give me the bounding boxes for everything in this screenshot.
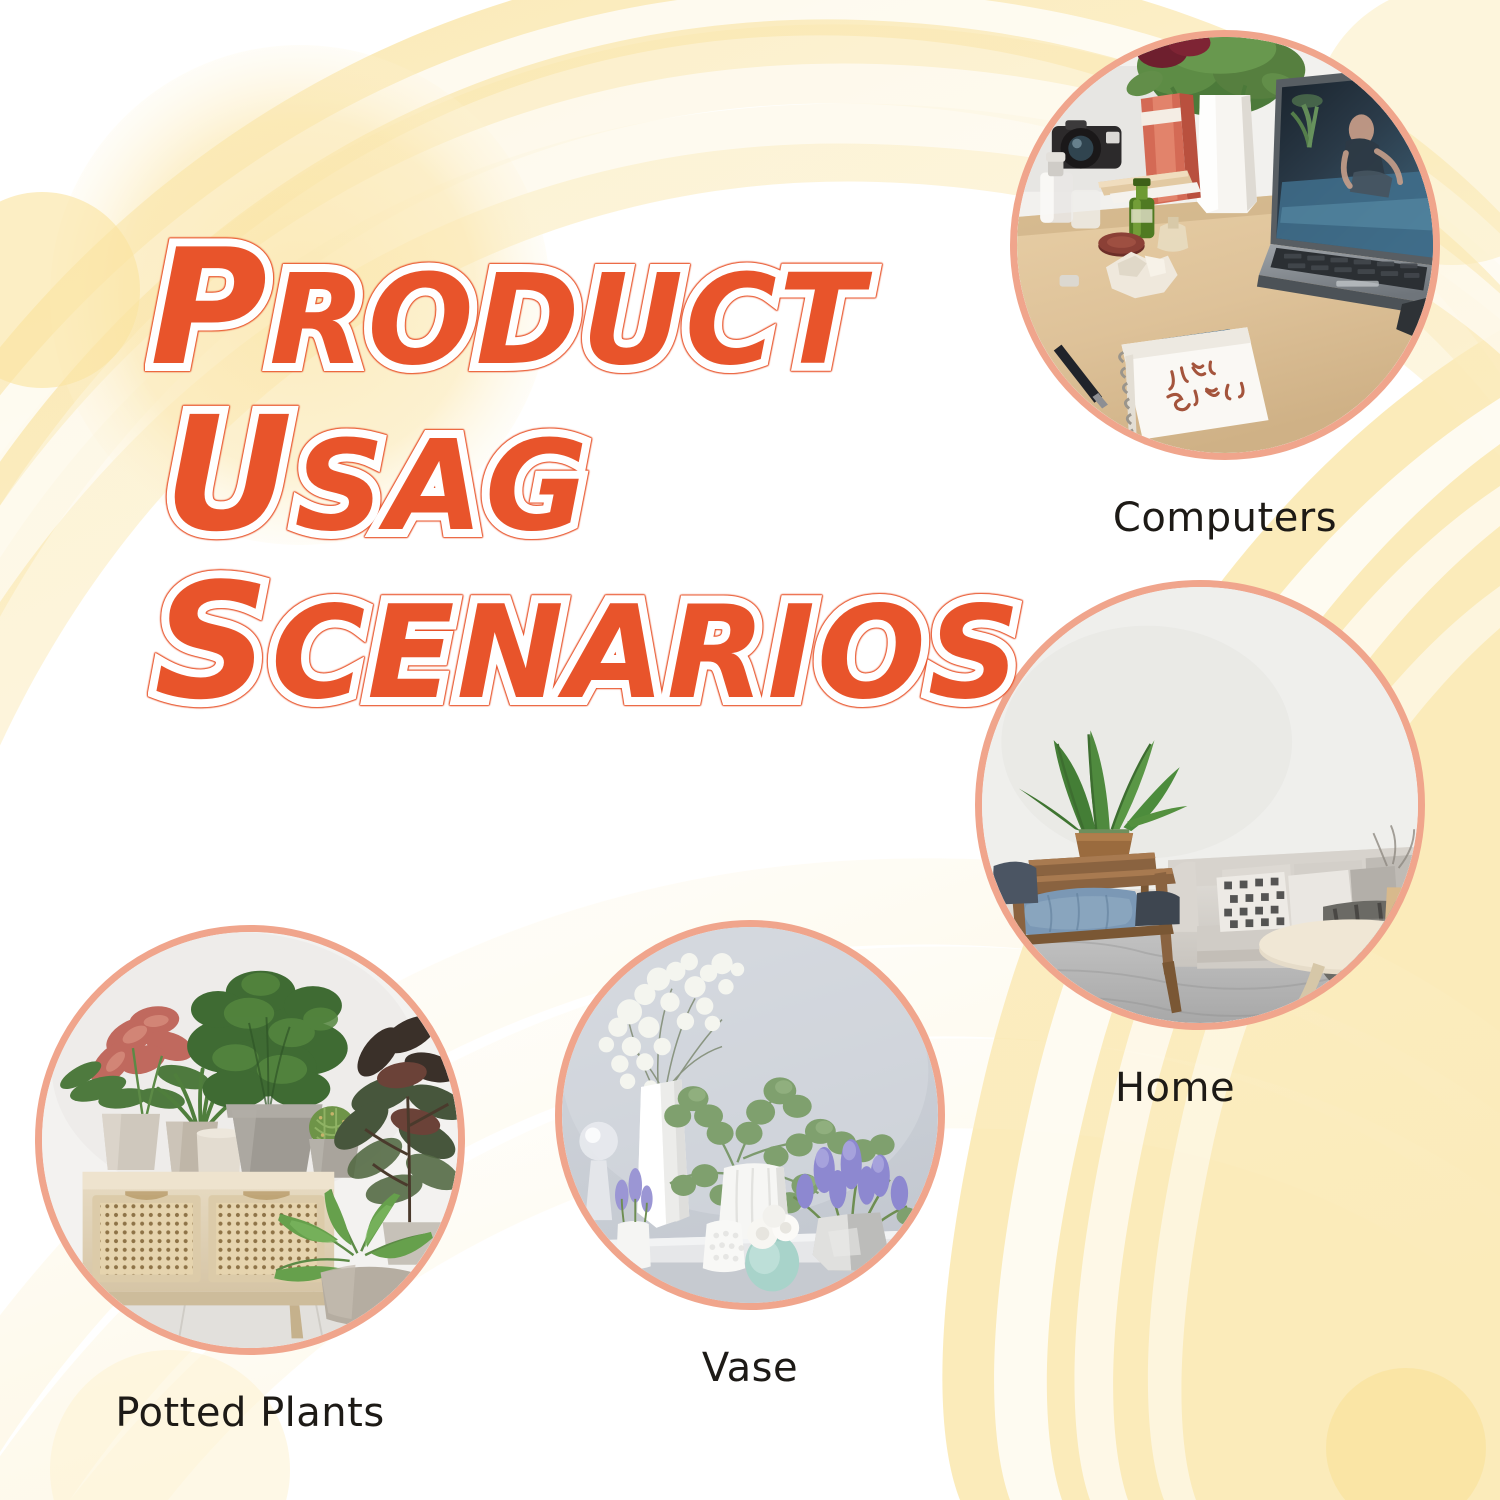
textured-white-vase [703,1220,745,1272]
scenario-potted-plants-photo [35,925,465,1355]
candle-vase [1385,887,1410,922]
title-line-3-rest: CENARIOS [271,579,1022,728]
scenario-home[interactable]: Home [975,580,1425,1030]
scenario-vase[interactable]: Vase [555,920,945,1310]
scenario-computers-photo [1010,30,1440,460]
laptop [1257,64,1433,316]
title-line-2-cap: U [164,383,294,567]
title-line-3: SCENARIOS [150,566,940,718]
desk-workspace-illustration [1017,37,1433,453]
pot-cream [197,1133,242,1174]
eraser [1060,275,1079,287]
houndstooth-pillow [1216,872,1290,932]
scenario-label-home: Home [915,1065,1435,1111]
scenario-potted-plants[interactable]: Potted Plants [35,925,465,1355]
scenario-home-photo [975,580,1425,1030]
title-line-2: USAG [150,400,940,550]
title-line-1-cap: P [150,214,269,401]
pendant-lamp [1362,587,1412,653]
scenario-label-potted-plants: Potted Plants [0,1390,510,1436]
living-room-illustration [982,587,1418,1023]
title-line-2-rest: SAG [294,414,589,559]
scenario-label-vase: Vase [490,1345,1010,1391]
page-title: PRODUCT USAG SCENARIOS [150,232,940,718]
title-line-1-rest: RODUCT [269,248,866,393]
title-line-3-cap: S [154,548,271,735]
title-line-1: PRODUCT [150,232,940,384]
right-small-vase [897,1200,936,1273]
scenario-computers[interactable]: Computers [1010,30,1440,460]
potted-plants-illustration [42,932,458,1348]
faceted-gray-vase [813,1212,890,1272]
vases-still-life-illustration [562,927,938,1303]
scenario-label-computers: Computers [965,495,1485,541]
scenario-vase-photo [555,920,945,1310]
infographic-canvas: PRODUCT USAG SCENARIOS [0,0,1500,1500]
